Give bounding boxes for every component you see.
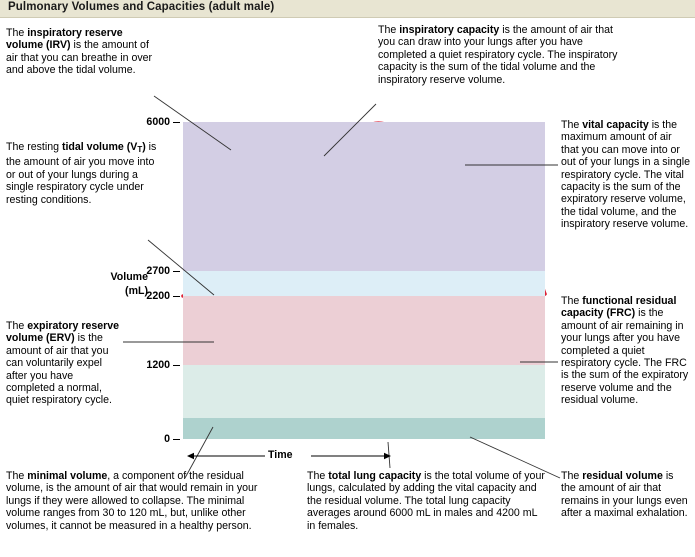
irv-band xyxy=(183,122,545,271)
inspiratory-reserve-volume-note: The inspiratory reserve volume (IRV) is … xyxy=(6,27,156,77)
y-tick-label-2700: 2700 xyxy=(115,265,170,277)
y-tick-label-2200: 2200 xyxy=(115,290,170,302)
y-tick-mark-2700 xyxy=(173,271,180,272)
y-tick-label-0: 0 xyxy=(115,433,170,445)
tidal-volume-note: The resting tidal volume (VT) is the amo… xyxy=(6,141,158,206)
y-tick-mark-1200 xyxy=(173,365,180,366)
mv-band xyxy=(183,418,545,439)
y-tick-label-1200: 1200 xyxy=(115,359,170,371)
x-axis-label: Time xyxy=(268,449,293,461)
functional-residual-capacity-note: The functional residual capacity (FRC) i… xyxy=(561,295,691,407)
erv-band xyxy=(183,296,545,365)
inspiratory-capacity-note: The inspiratory capacity is the amount o… xyxy=(378,24,618,86)
rv-band xyxy=(183,365,545,418)
y-tick-label-6000: 6000 xyxy=(115,116,170,128)
minimal-volume-note: The minimal volume, a component of the r… xyxy=(6,470,272,532)
y-tick-mark-6000 xyxy=(173,122,180,123)
tv-band xyxy=(183,271,545,296)
y-tick-mark-0 xyxy=(173,439,180,440)
page-title: Pulmonary Volumes and Capacities (adult … xyxy=(8,1,274,13)
expiratory-reserve-volume-note: The expiratory reserve volume (ERV) is t… xyxy=(6,320,124,407)
vital-capacity-note: The vital capacity is the maximum amount… xyxy=(561,119,691,231)
y-tick-mark-2200 xyxy=(173,296,180,297)
respiratory-volume-plot xyxy=(183,122,545,439)
total-lung-capacity-note: The total lung capacity is the total vol… xyxy=(307,470,547,532)
time-axis-svg xyxy=(183,445,403,467)
title-bar: Pulmonary Volumes and Capacities (adult … xyxy=(0,0,695,18)
residual-volume-note: The residual volume is the amount of air… xyxy=(561,470,691,520)
